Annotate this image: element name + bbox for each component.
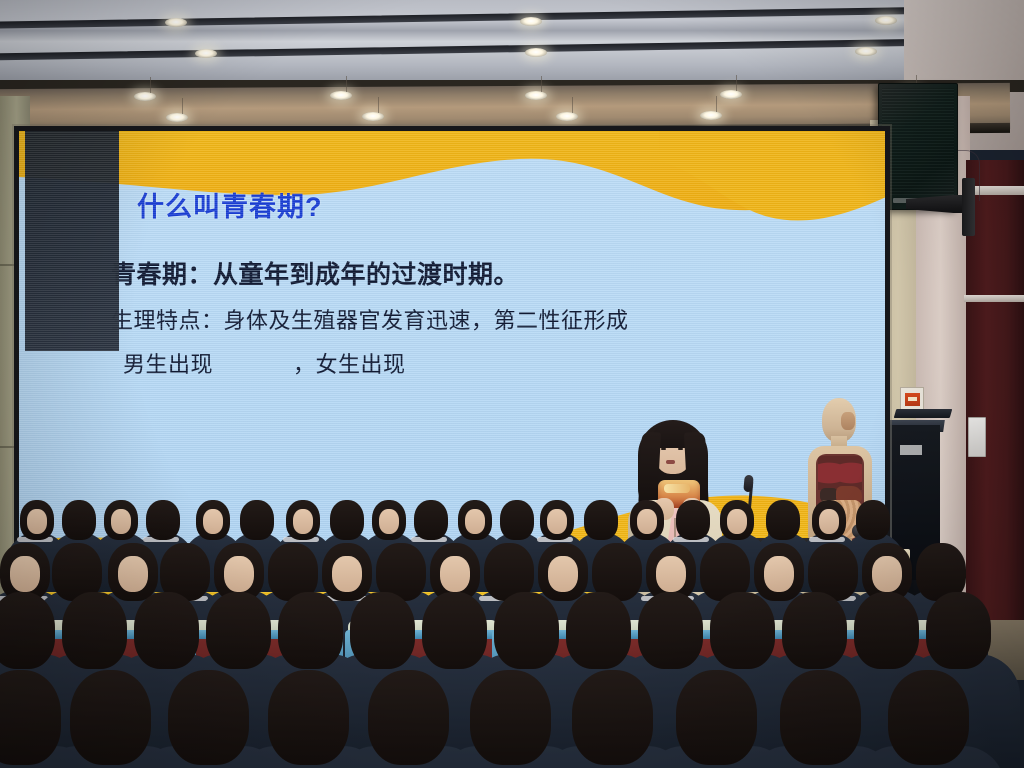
student-face bbox=[465, 509, 485, 534]
student-head bbox=[584, 500, 618, 540]
student-head bbox=[754, 543, 804, 601]
presenter-eye bbox=[661, 448, 666, 450]
student-face bbox=[764, 556, 794, 592]
student-head bbox=[638, 592, 703, 669]
student-face bbox=[819, 509, 839, 534]
student-head bbox=[104, 500, 138, 540]
presenter-mouth bbox=[666, 460, 675, 464]
ceiling-downlight bbox=[525, 48, 547, 57]
slide-line-definition: 青春期：从童年到成年的过渡时期。 bbox=[111, 255, 519, 291]
student-head bbox=[134, 592, 199, 669]
student-head bbox=[766, 500, 800, 540]
light-wire bbox=[541, 76, 542, 92]
student-head bbox=[888, 670, 969, 765]
student-head bbox=[278, 592, 343, 669]
light-wire bbox=[378, 97, 379, 113]
student-head bbox=[368, 670, 449, 765]
auditorium-photo: 什么叫青春期? 青春期：从童年到成年的过渡时期。 生理特点：身体及生殖器官发育迅… bbox=[0, 0, 1024, 768]
student-face bbox=[379, 509, 399, 534]
soffit-spotlight bbox=[166, 113, 188, 122]
slide-line-blanks-after: ，女生出现 bbox=[293, 352, 406, 377]
wall-switch-plate[interactable] bbox=[968, 417, 986, 457]
student-face bbox=[203, 509, 223, 534]
rack-label bbox=[900, 445, 922, 455]
student-face bbox=[727, 509, 747, 534]
student-head bbox=[854, 592, 919, 669]
student-head bbox=[710, 592, 775, 669]
light-wire bbox=[182, 98, 183, 114]
emergency-sign bbox=[900, 387, 924, 411]
light-wire bbox=[716, 96, 717, 112]
soffit-spotlight bbox=[134, 92, 156, 101]
student-head bbox=[494, 592, 559, 669]
student-head bbox=[146, 500, 180, 540]
maroon-panel-trim bbox=[964, 295, 1024, 302]
student-face bbox=[637, 509, 657, 534]
wall-mounted-loudspeaker bbox=[878, 83, 958, 210]
student-head bbox=[70, 670, 151, 765]
student-face bbox=[27, 509, 47, 534]
student-head bbox=[62, 592, 127, 669]
soffit-spotlight bbox=[525, 91, 547, 100]
student-head bbox=[286, 500, 320, 540]
rack-keyboard[interactable] bbox=[894, 409, 953, 418]
slide-line-blanks: 男生出现，女生出现 bbox=[123, 347, 406, 379]
student-head bbox=[926, 592, 991, 669]
student-head bbox=[782, 592, 847, 669]
student-head bbox=[20, 500, 54, 540]
slide-title: 什么叫青春期? bbox=[137, 185, 323, 224]
soffit-spotlight bbox=[556, 112, 578, 121]
student-head bbox=[630, 500, 664, 540]
student-face bbox=[332, 556, 362, 592]
student-face bbox=[118, 556, 148, 592]
presenter-eye bbox=[678, 448, 683, 450]
student-face bbox=[224, 556, 254, 592]
slide-line-characteristics: 生理特点：身体及生殖器官发育迅速，第二性征形成 bbox=[111, 303, 629, 335]
light-wire bbox=[150, 77, 151, 93]
student-head bbox=[372, 500, 406, 540]
student-head bbox=[812, 500, 846, 540]
student-head bbox=[538, 543, 588, 601]
student-head bbox=[330, 500, 364, 540]
student-head bbox=[566, 592, 631, 669]
student-head bbox=[470, 670, 551, 765]
student-head bbox=[62, 500, 96, 540]
ceiling-downlight bbox=[165, 18, 187, 27]
model-face bbox=[841, 412, 855, 430]
student-head bbox=[0, 592, 55, 669]
student-head bbox=[0, 670, 61, 765]
student-head bbox=[350, 592, 415, 669]
student-head bbox=[676, 670, 757, 765]
light-wire bbox=[572, 97, 573, 113]
light-wire bbox=[736, 75, 737, 91]
projection-occlusion-block bbox=[25, 131, 119, 351]
ceiling-slot bbox=[0, 38, 960, 61]
student-face bbox=[547, 509, 567, 534]
student-head bbox=[720, 500, 754, 540]
light-wire bbox=[346, 76, 347, 92]
student-head bbox=[414, 500, 448, 540]
model-lungs bbox=[818, 456, 862, 490]
ceiling bbox=[0, 0, 1024, 90]
student-head bbox=[268, 670, 349, 765]
student-head bbox=[422, 592, 487, 669]
student-head bbox=[458, 500, 492, 540]
student-head bbox=[856, 500, 890, 540]
ceiling-downlight bbox=[195, 49, 217, 58]
student-head bbox=[540, 500, 574, 540]
student-head bbox=[572, 670, 653, 765]
student-face bbox=[548, 556, 578, 592]
student-face bbox=[656, 556, 686, 592]
speaker-grille bbox=[882, 88, 954, 195]
student-head bbox=[196, 500, 230, 540]
handheld-model-highlight bbox=[664, 484, 690, 493]
student-head bbox=[676, 500, 710, 540]
speaker-arm bbox=[962, 178, 975, 236]
student-head bbox=[206, 592, 271, 669]
student-head bbox=[322, 543, 372, 601]
ceiling-downlight bbox=[520, 17, 542, 26]
student-face bbox=[440, 556, 470, 592]
student-head bbox=[168, 670, 249, 765]
projection-screen: 什么叫青春期? 青春期：从童年到成年的过渡时期。 生理特点：身体及生殖器官发育迅… bbox=[14, 126, 890, 606]
student-face bbox=[111, 509, 131, 534]
student-head bbox=[108, 543, 158, 601]
student-face bbox=[10, 556, 40, 592]
student-head bbox=[780, 670, 861, 765]
student-head bbox=[240, 500, 274, 540]
slide-line-blanks-before: 男生出现 bbox=[123, 352, 213, 377]
ceiling-slot bbox=[0, 6, 980, 29]
ceiling-downlight bbox=[855, 47, 877, 56]
student-face bbox=[293, 509, 313, 534]
ceiling-downlight bbox=[875, 16, 897, 25]
student-head bbox=[500, 500, 534, 540]
student-face bbox=[872, 556, 902, 592]
